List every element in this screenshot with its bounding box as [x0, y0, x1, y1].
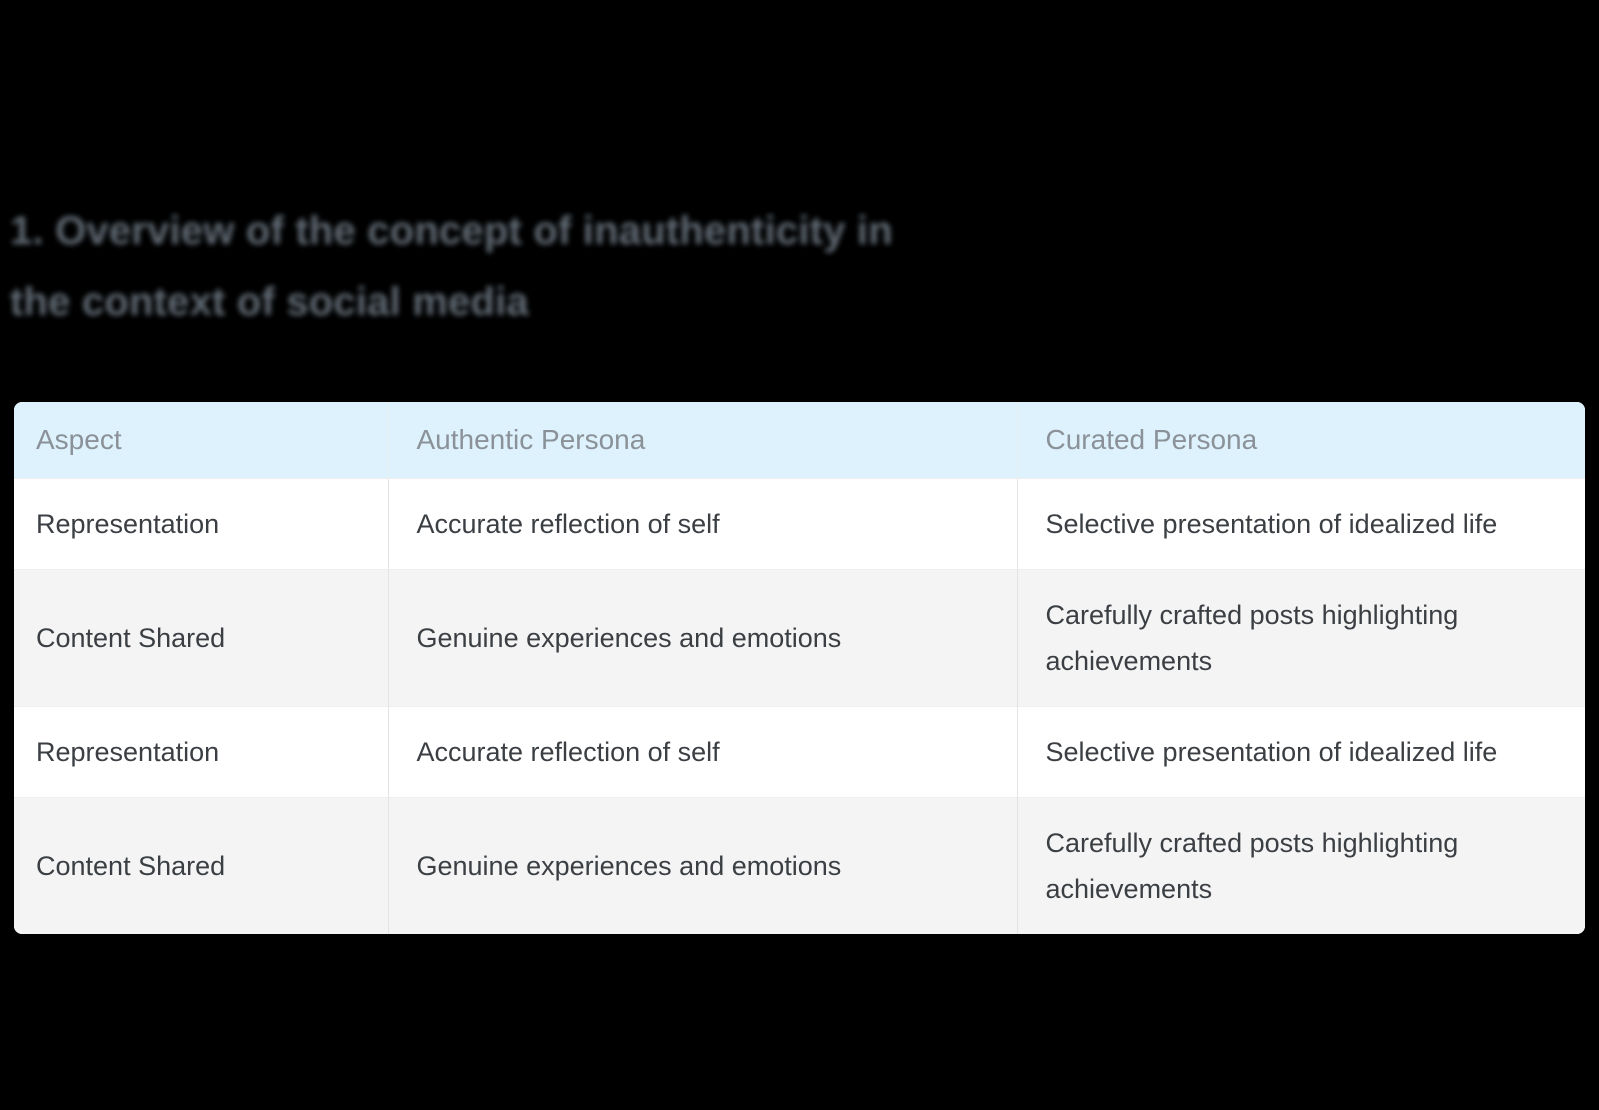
table-row: Representation Accurate reflection of se… [14, 479, 1585, 570]
comparison-table: Aspect Authentic Persona Curated Persona… [14, 402, 1585, 934]
cell-curated-persona: Carefully crafted posts highlighting ach… [1017, 570, 1585, 707]
column-header-authentic-persona[interactable]: Authentic Persona [388, 402, 1017, 479]
page-title: 1. Overview of the concept of inauthenti… [10, 196, 1080, 338]
cell-curated-persona: Selective presentation of idealized life [1017, 707, 1585, 798]
table-row: Representation Accurate reflection of se… [14, 707, 1585, 798]
cell-aspect: Content Shared [14, 570, 388, 707]
cell-curated-persona: Carefully crafted posts highlighting ach… [1017, 798, 1585, 935]
cell-aspect: Content Shared [14, 798, 388, 935]
cell-aspect: Representation [14, 479, 388, 570]
column-header-curated-persona[interactable]: Curated Persona [1017, 402, 1585, 479]
column-header-aspect[interactable]: Aspect [14, 402, 388, 479]
table-header: Aspect Authentic Persona Curated Persona [14, 402, 1585, 479]
table-body: Representation Accurate reflection of se… [14, 479, 1585, 935]
comparison-table-card: Aspect Authentic Persona Curated Persona… [14, 402, 1585, 934]
table-row: Content Shared Genuine experiences and e… [14, 570, 1585, 707]
cell-curated-persona: Selective presentation of idealized life [1017, 479, 1585, 570]
cell-authentic-persona: Genuine experiences and emotions [388, 798, 1017, 935]
table-header-row: Aspect Authentic Persona Curated Persona [14, 402, 1585, 479]
cell-aspect: Representation [14, 707, 388, 798]
cell-authentic-persona: Accurate reflection of self [388, 479, 1017, 570]
table-row: Content Shared Genuine experiences and e… [14, 798, 1585, 935]
cell-authentic-persona: Accurate reflection of self [388, 707, 1017, 798]
cell-authentic-persona: Genuine experiences and emotions [388, 570, 1017, 707]
